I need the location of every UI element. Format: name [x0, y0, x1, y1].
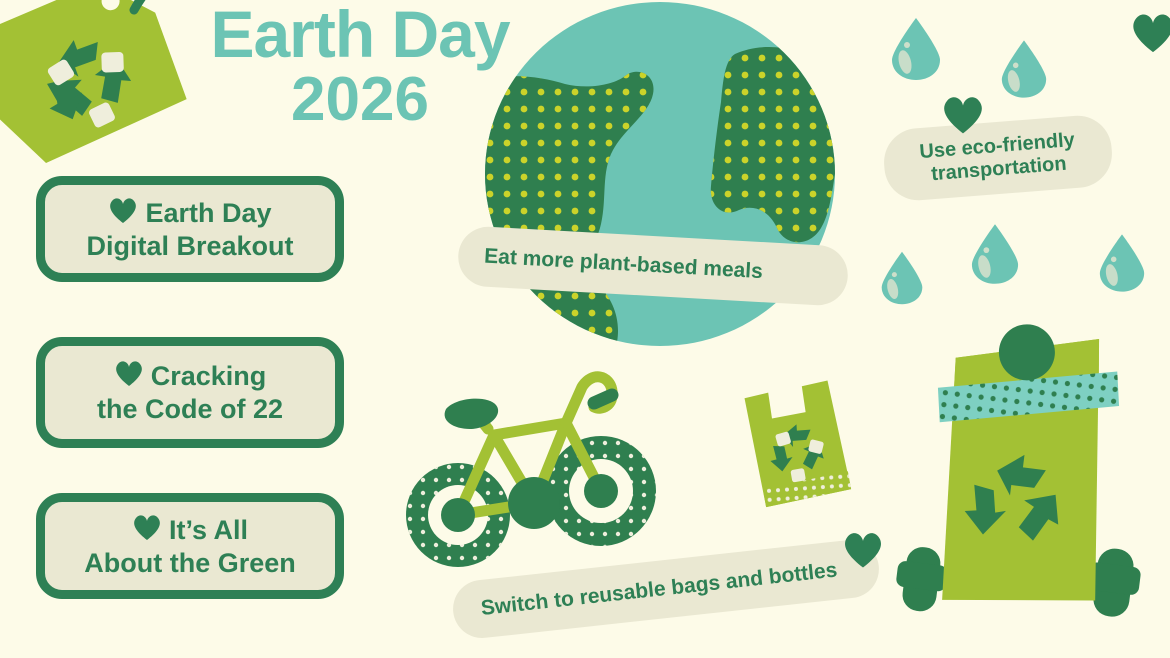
water-drop-icon — [890, 16, 942, 87]
title-line-1: Earth Day — [190, 2, 530, 67]
tip-use-eco-friendly-transportation[interactable]: Use eco-friendly transportation — [882, 113, 1115, 203]
heart-icon — [132, 514, 162, 548]
menu-button-line-2: About the Green — [84, 548, 296, 578]
menu-button-its-all-about-the-green[interactable]: It’s All About the Green — [36, 493, 344, 599]
menu-button-line-1: Cracking — [151, 361, 267, 391]
page-title: Earth Day 2026 — [190, 2, 530, 131]
reusable-shopping-bag-icon — [736, 368, 881, 523]
recycle-tag-icon — [0, 0, 218, 197]
heart-icon — [842, 531, 884, 574]
earth-day-poster: Earth Day 2026 Earth Day Digital Breakou… — [0, 0, 1170, 658]
title-line-2: 2026 — [190, 69, 530, 131]
menu-button-line-2: the Code of 22 — [97, 394, 283, 424]
bicycle-icon — [396, 363, 676, 578]
menu-button-earth-day-digital-breakout[interactable]: Earth Day Digital Breakout — [36, 176, 344, 282]
menu-button-cracking-the-code-of-22[interactable]: Cracking the Code of 22 — [36, 337, 344, 448]
heart-icon — [108, 197, 138, 231]
heart-icon — [1130, 12, 1170, 59]
heart-icon — [114, 360, 144, 394]
heart-icon — [941, 95, 985, 140]
menu-button-line-2: Digital Breakout — [86, 231, 293, 261]
recycling-bin-icon — [896, 292, 1170, 658]
water-drop-icon — [1000, 38, 1048, 105]
menu-button-line-1: Earth Day — [145, 198, 271, 228]
water-drop-icon — [970, 222, 1020, 291]
water-drop-icon — [1098, 232, 1146, 299]
tip-label: Eat more plant-based meals — [484, 245, 764, 285]
menu-button-line-1: It’s All — [169, 515, 248, 545]
